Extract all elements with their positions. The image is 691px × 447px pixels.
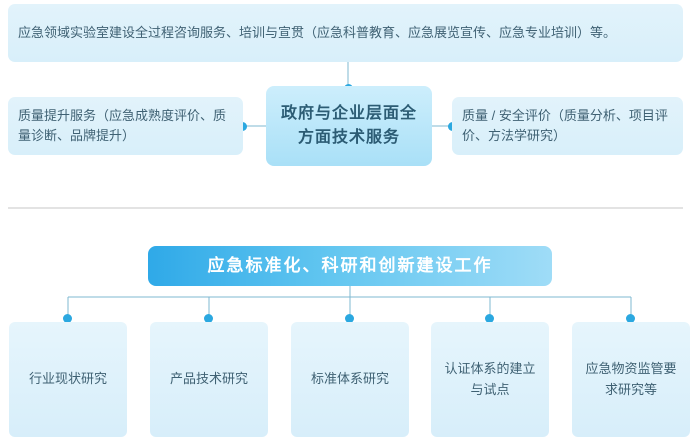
- diagram-canvas: 应急领域实验室建设全过程咨询服务、培训与宣贯（应急科普教育、应急展览宣传、应急专…: [0, 0, 691, 447]
- left-quality-box: 质量提升服务（应急成熟度评价、质量诊断、品牌提升）: [8, 97, 243, 155]
- center-service-box: 政府与企业层面全方面技术服务: [266, 86, 432, 166]
- top-description-box: 应急领域实验室建设全过程咨询服务、培训与宣贯（应急科普教育、应急展览宣传、应急专…: [8, 4, 683, 62]
- bottom-banner: 应急标准化、科研和创新建设工作: [148, 246, 552, 286]
- section-divider: [8, 207, 683, 209]
- bottom-card-2: 产品技术研究: [150, 322, 268, 437]
- bottom-card-5: 应急物资监管要求研究等: [572, 322, 690, 437]
- bottom-card-3: 标准体系研究: [291, 322, 409, 437]
- bottom-card-4: 认证体系的建立与试点: [431, 322, 549, 437]
- bottom-card-1: 行业现状研究: [9, 322, 127, 437]
- right-evaluation-box: 质量 / 安全评价（质量分析、项目评价、方法学研究）: [452, 97, 683, 155]
